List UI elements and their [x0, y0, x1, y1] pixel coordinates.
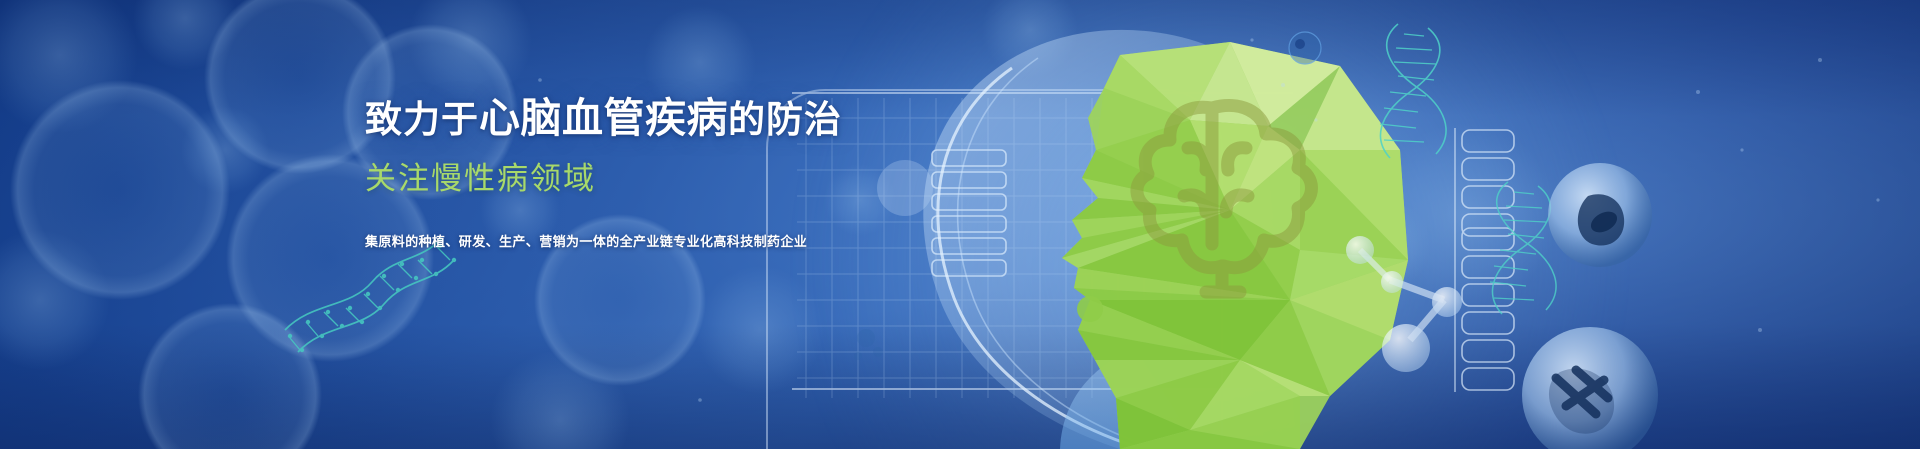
- page-subtitle: 关注慢性病领域: [365, 153, 795, 198]
- cell-bottom-right: [1522, 327, 1658, 449]
- headline-highlight: 心脑血管疾病: [479, 94, 728, 142]
- headline-prefix: 致力于: [365, 98, 479, 141]
- hero-banner: 致力于心脑血管疾病的防治 关注慢性病领域 集原料的种植、研发、生产、营销为一体的…: [0, 0, 1920, 449]
- banner-text-block: 致力于心脑血管疾病的防治 关注慢性病领域 集原料的种植、研发、生产、营销为一体的…: [365, 96, 795, 250]
- headline-suffix: 的防治: [728, 98, 842, 141]
- cell-small-top: [1289, 32, 1321, 64]
- banner-artwork: [0, 0, 1920, 449]
- page-description: 集原料的种植、研发、生产、营销为一体的全产业链专业化高科技制药企业: [365, 231, 795, 250]
- cell-top-right: [1548, 163, 1652, 267]
- page-title: 致力于心脑血管疾病的防治: [365, 96, 795, 142]
